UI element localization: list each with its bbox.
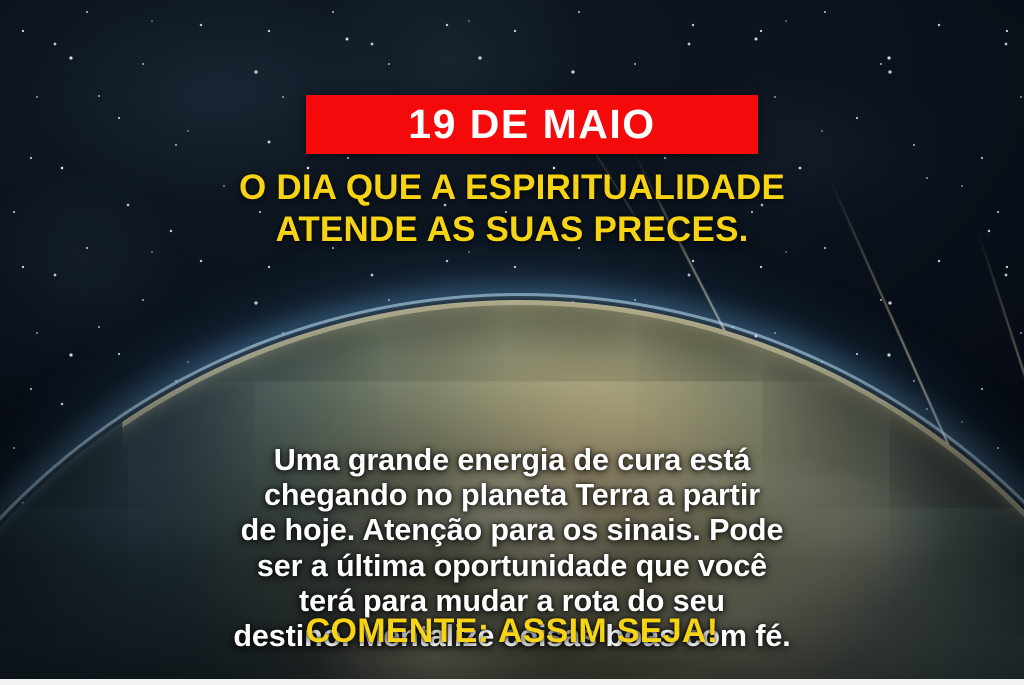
poster-canvas: 19 DE MAIO O DIA QUE A ESPIRITUALIDADE A… bbox=[0, 0, 1024, 685]
bottom-edge-strip bbox=[0, 679, 1024, 685]
call-to-action: COMENTE: ASSIM SEJA! bbox=[0, 613, 1024, 650]
body-line-3: de hoje. Atenção para os sinais. Pode bbox=[62, 513, 962, 548]
date-badge: 19 DE MAIO bbox=[306, 95, 758, 154]
body-line-2: chegando no planeta Terra a partir bbox=[62, 478, 962, 513]
headline-line-1: O DIA QUE A ESPIRITUALIDADE bbox=[40, 167, 984, 209]
body-line-1: Uma grande energia de cura está bbox=[62, 443, 962, 478]
date-badge-label: 19 DE MAIO bbox=[408, 104, 655, 145]
headline: O DIA QUE A ESPIRITUALIDADE ATENDE AS SU… bbox=[0, 167, 1024, 250]
headline-line-2: ATENDE AS SUAS PRECES. bbox=[40, 209, 984, 251]
body-line-4: ser a última oportunidade que você bbox=[62, 549, 962, 584]
poster-content: 19 DE MAIO O DIA QUE A ESPIRITUALIDADE A… bbox=[0, 0, 1024, 685]
